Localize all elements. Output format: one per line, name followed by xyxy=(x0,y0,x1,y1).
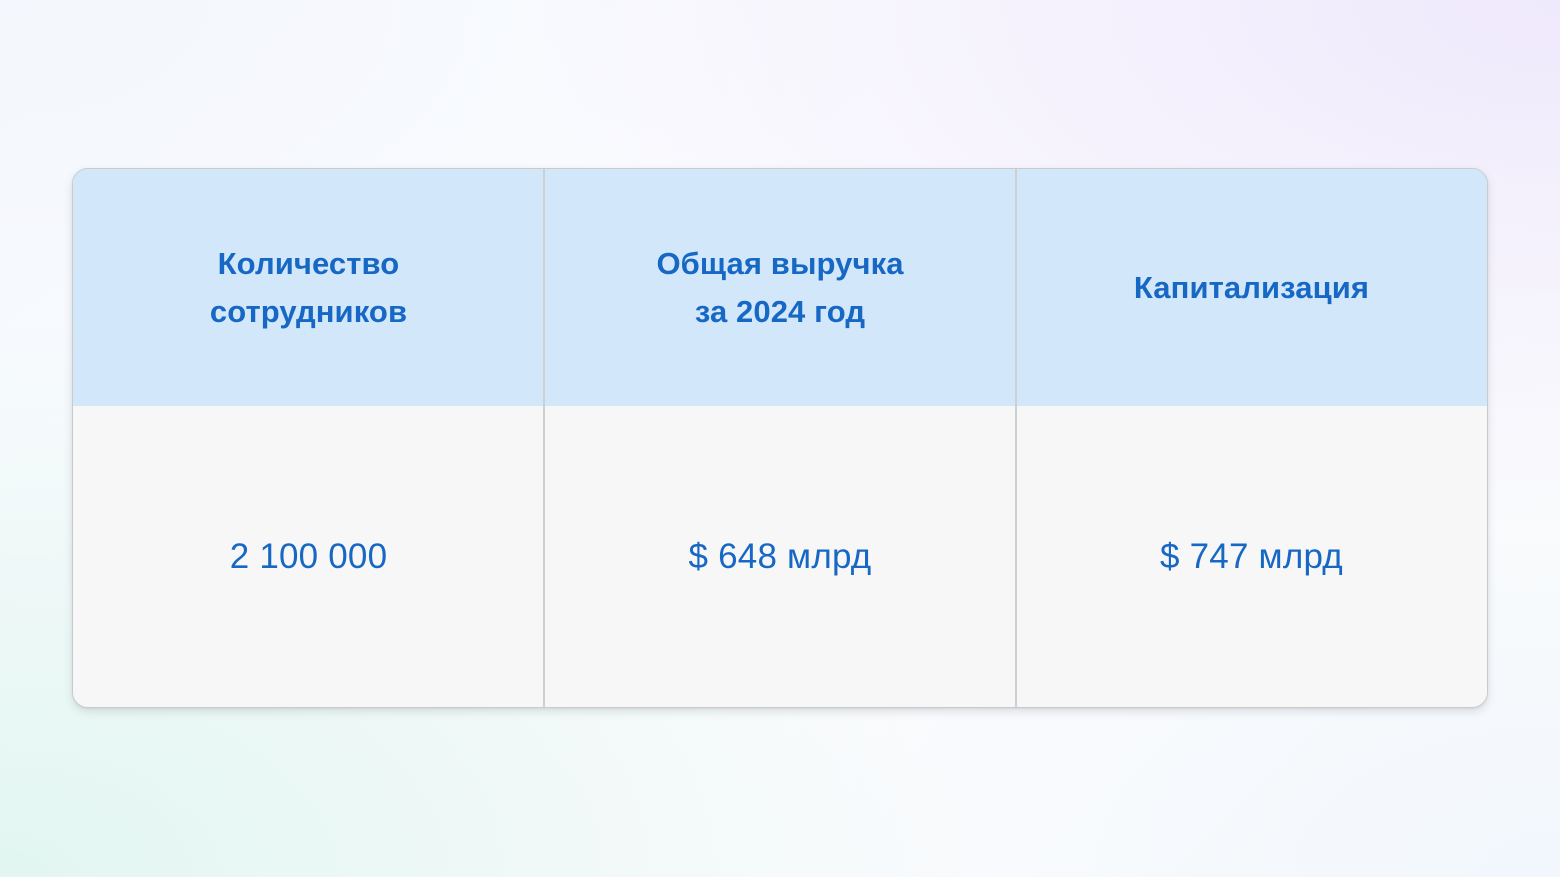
table-value-revenue: $ 648 млрд xyxy=(689,536,872,578)
table-header-label-capitalization: Капитализация xyxy=(1134,264,1369,311)
table-row: 2 100 000 $ 648 млрд $ 747 млрд xyxy=(73,406,1487,707)
table-value-employees: 2 100 000 xyxy=(230,536,388,578)
table-header-cell-capitalization: Капитализация xyxy=(1016,169,1487,406)
table-header-cell-employees: Количество сотрудников xyxy=(73,169,544,406)
table-cell-capitalization: $ 747 млрд xyxy=(1016,406,1487,707)
stats-table: Количество сотрудников Общая выручка за … xyxy=(72,168,1488,708)
table-cell-employees: 2 100 000 xyxy=(73,406,544,707)
table-header-cell-revenue: Общая выручка за 2024 год xyxy=(544,169,1016,406)
table-header-label-revenue: Общая выручка за 2024 год xyxy=(656,240,903,334)
table-cell-revenue: $ 648 млрд xyxy=(544,406,1016,707)
table-value-capitalization: $ 747 млрд xyxy=(1160,536,1343,578)
table-header-row: Количество сотрудников Общая выручка за … xyxy=(73,169,1487,406)
table-header-label-employees: Количество сотрудников xyxy=(210,240,407,334)
